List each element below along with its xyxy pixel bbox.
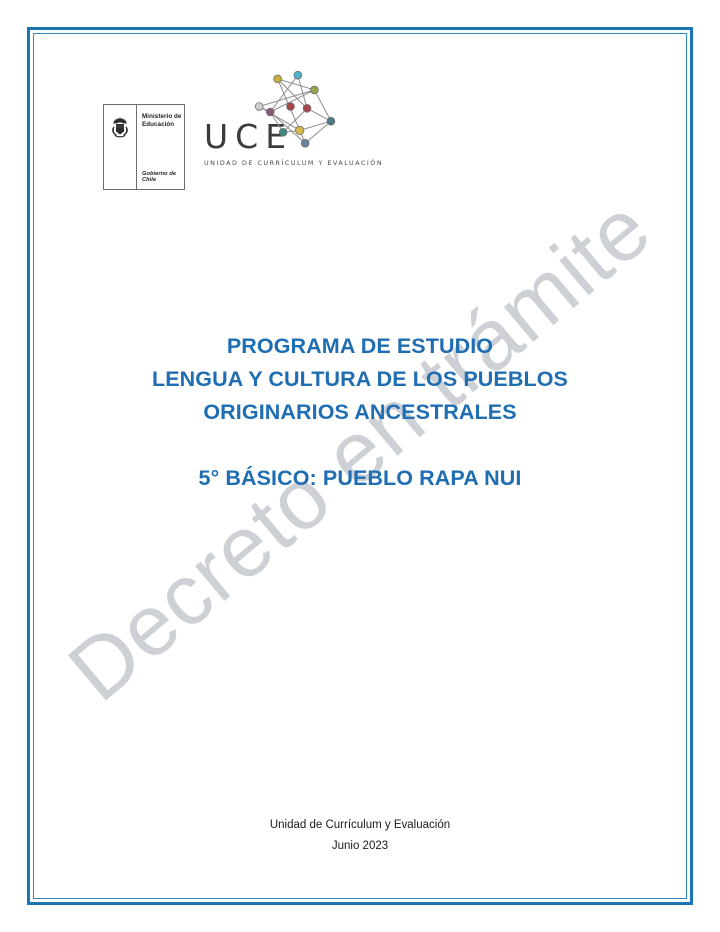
- footer-unit: Unidad de Currículum y Evaluación: [60, 815, 660, 836]
- mineduc-government-label: Gobierno de Chile: [142, 171, 184, 183]
- mineduc-text-cell: Ministerio de Educación Gobierno de Chil…: [137, 105, 184, 189]
- title-line-nivel: 5° BÁSICO: PUEBLO RAPA NUI: [60, 462, 660, 495]
- title-line-programa: PROGRAMA DE ESTUDIO: [60, 330, 660, 363]
- mineduc-title: Ministerio de Educación: [142, 113, 182, 129]
- title-line-originarios: ORIGINARIOS ANCESTRALES: [60, 396, 660, 429]
- header-logos: Ministerio de Educación Gobierno de Chil…: [100, 72, 400, 202]
- title-spacer: [60, 429, 660, 462]
- chile-coat-of-arms-icon: [108, 116, 132, 138]
- uce-subtitle: UNIDAD DE CURRÍCULUM Y EVALUACIÓN: [204, 159, 394, 169]
- footer-date: Junio 2023: [60, 836, 660, 857]
- page-footer: Unidad de Currículum y Evaluación Junio …: [60, 815, 660, 857]
- document-page: Ministerio de Educación Gobierno de Chil…: [0, 0, 720, 932]
- mineduc-crest-cell: [104, 105, 137, 189]
- uce-network-nodes-icon: [250, 66, 342, 158]
- mineduc-logo: Ministerio de Educación Gobierno de Chil…: [103, 104, 185, 190]
- cover-title-block: PROGRAMA DE ESTUDIO LENGUA Y CULTURA DE …: [60, 330, 660, 495]
- title-line-lengua: LENGUA Y CULTURA DE LOS PUEBLOS: [60, 363, 660, 396]
